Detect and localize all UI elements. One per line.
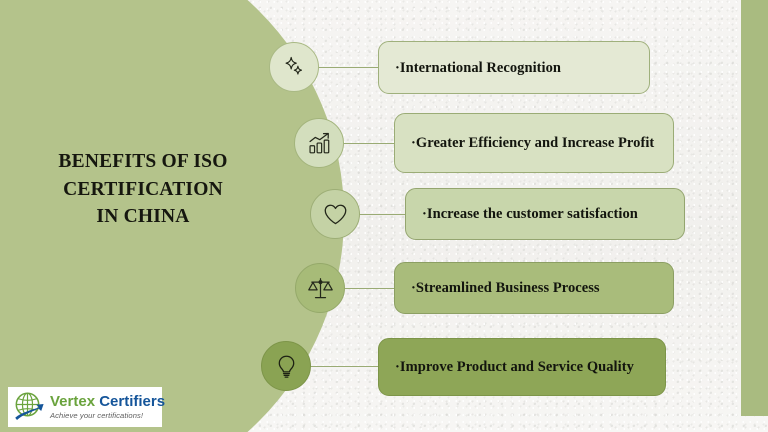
connector-line-3 [358, 214, 405, 215]
connector-line-5 [310, 366, 378, 367]
company-logo[interactable]: Vertex Certifiers Achieve your certifica… [8, 387, 162, 427]
page-title: BENEFITS OF ISO CERTIFICATION IN CHINA [14, 148, 272, 231]
balance-scales-icon [307, 275, 334, 302]
benefit-icon-circle-3[interactable] [310, 189, 360, 239]
logo-tagline: Achieve your certifications! [50, 412, 165, 420]
benefit-box-1[interactable]: ·International Recognition [378, 41, 650, 94]
benefit-box-4[interactable]: ·Streamlined Business Process [394, 262, 674, 314]
benefit-text-2: ·Greater Efficiency and Increase Profit [411, 133, 654, 153]
connector-line-2 [342, 143, 394, 144]
globe-icon [12, 390, 46, 424]
lightbulb-icon [273, 353, 300, 380]
benefit-box-5[interactable]: ·Improve Product and Service Quality [378, 338, 666, 396]
benefit-icon-circle-5[interactable] [261, 341, 311, 391]
connector-line-4 [344, 288, 394, 289]
slide-canvas: BENEFITS OF ISO CERTIFICATION IN CHINA ·… [0, 0, 768, 432]
benefit-icon-circle-1[interactable] [269, 42, 319, 92]
benefit-text-4: ·Streamlined Business Process [411, 278, 600, 298]
heart-icon [322, 201, 349, 228]
benefit-box-3[interactable]: ·Increase the customer satisfaction [405, 188, 685, 240]
benefit-text-1: ·International Recognition [395, 58, 561, 78]
title-line-2: CERTIFICATION [14, 176, 272, 204]
benefit-icon-circle-4[interactable] [295, 263, 345, 313]
bar-chart-growth-icon [306, 130, 333, 157]
logo-name-part2: Certifiers [99, 393, 165, 410]
logo-name: Vertex Certifiers [50, 394, 165, 409]
benefit-box-2[interactable]: ·Greater Efficiency and Increase Profit [394, 113, 674, 173]
logo-text-block: Vertex Certifiers Achieve your certifica… [50, 394, 165, 420]
title-line-3: IN CHINA [14, 203, 272, 231]
logo-name-part1: Vertex [50, 393, 95, 410]
right-green-band [741, 0, 768, 416]
title-line-1: BENEFITS OF ISO [14, 148, 272, 176]
benefit-text-3: ·Increase the customer satisfaction [422, 204, 638, 224]
benefit-text-5: ·Improve Product and Service Quality [395, 357, 634, 377]
connector-line-1 [318, 67, 378, 68]
sparkles-icon [281, 54, 307, 80]
benefit-icon-circle-2[interactable] [294, 118, 344, 168]
